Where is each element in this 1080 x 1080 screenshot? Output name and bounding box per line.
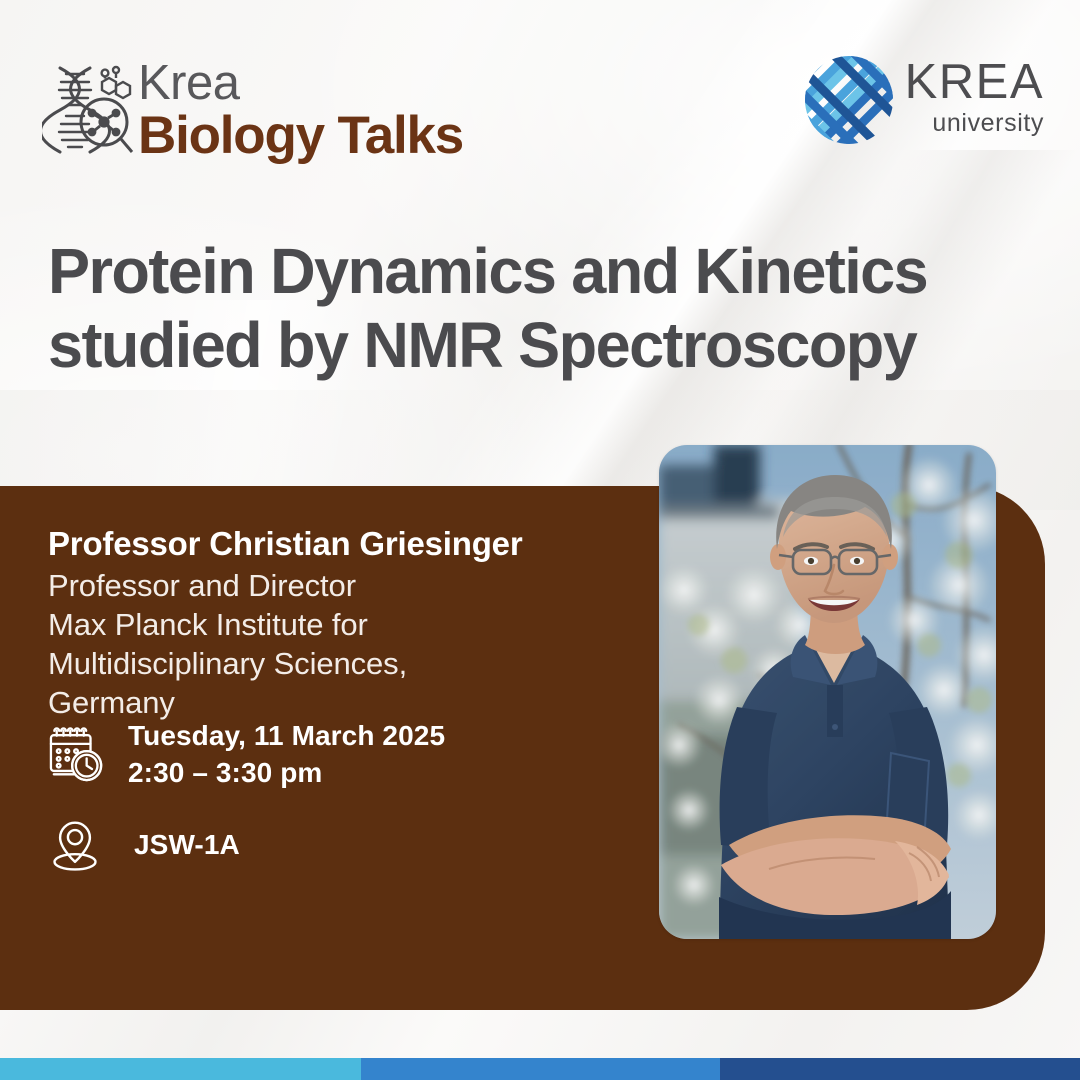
location-pin-icon: [48, 818, 112, 874]
krea-university-logo: KREA university: [801, 52, 1044, 148]
speaker-name: Professor Christian Griesinger: [48, 524, 648, 564]
brand-line-krea: Krea: [138, 60, 463, 108]
title-line-1: Protein Dynamics and Kinetics: [48, 239, 1013, 303]
event-date: Tuesday, 11 March 2025: [128, 718, 445, 755]
poster-header: Krea Biology Talks: [0, 0, 1080, 190]
event-date-row: Tuesday, 11 March 2025 2:30 – 3:30 pm: [48, 718, 445, 792]
event-poster: Krea Biology Talks: [0, 0, 1080, 1080]
title-line-2: studied by NMR Spectroscopy: [48, 313, 1013, 377]
krea-subtitle: university: [905, 108, 1044, 138]
krea-weave-mark-icon: [801, 52, 897, 148]
page-title: Protein Dynamics and Kinetics studied by…: [48, 239, 1028, 377]
brand-line-biology-talks: Biology Talks: [138, 108, 463, 164]
dna-magnifier-icon: [42, 60, 134, 164]
calendar-clock-icon: [48, 727, 112, 783]
bottom-color-bar: [0, 1058, 1080, 1080]
speaker-affiliation: Professor and Director Max Planck Instit…: [48, 566, 648, 722]
bottom-bar-segment-light-blue: [0, 1058, 361, 1080]
event-date-text: Tuesday, 11 March 2025 2:30 – 3:30 pm: [128, 718, 445, 792]
brand-wordmark: Krea Biology Talks: [138, 58, 463, 164]
bottom-bar-segment-dark-blue: [720, 1058, 1080, 1080]
krea-university-wordmark: KREA university: [905, 58, 1044, 142]
event-meta: Tuesday, 11 March 2025 2:30 – 3:30 pm JS…: [48, 718, 445, 874]
brand-lockup: Krea Biology Talks: [42, 58, 463, 164]
speaker-portrait-image: [659, 445, 996, 939]
speaker-details: Professor Christian Griesinger Professor…: [48, 524, 648, 722]
krea-name: KREA: [905, 58, 1044, 107]
affiliation-line-3: Multidisciplinary Sciences,: [48, 644, 648, 683]
event-location-row: JSW-1A: [48, 818, 445, 874]
event-time: 2:30 – 3:30 pm: [128, 755, 445, 792]
affiliation-line-2: Max Planck Institute for: [48, 605, 648, 644]
affiliation-line-1: Professor and Director: [48, 566, 648, 605]
bottom-bar-segment-medium-blue: [361, 1058, 721, 1080]
speaker-photo: [659, 445, 996, 939]
event-venue: JSW-1A: [134, 827, 240, 864]
affiliation-line-4: Germany: [48, 683, 648, 722]
event-location-text: JSW-1A: [134, 827, 240, 864]
